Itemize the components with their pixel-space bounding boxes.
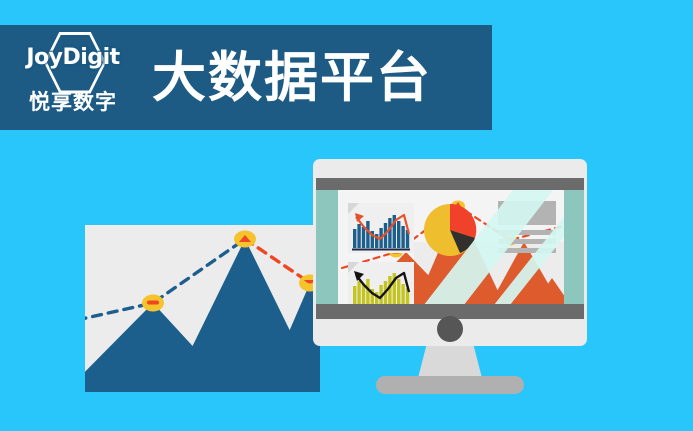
pie-chart[interactable]: [422, 202, 478, 258]
monitor-camera-dot-icon: [437, 316, 463, 342]
header-banner: JoyDigit 悦享数字 大数据平台: [0, 25, 492, 130]
blue-bar-chart-card[interactable]: [348, 203, 414, 253]
logo-english-name: JoyDigit: [26, 45, 119, 70]
placeholder-image: [498, 201, 556, 225]
desktop-monitor: [313, 159, 587, 390]
brand-logo: JoyDigit 悦享数字: [12, 28, 134, 128]
text-placeholder-block: [498, 201, 556, 253]
mountain-shapes: [85, 239, 320, 392]
monitor-stand-base: [376, 376, 524, 394]
monitor-top-bar: [316, 178, 584, 190]
page-title: 大数据平台: [152, 51, 432, 105]
placeholder-line: [498, 248, 556, 253]
placeholder-line: [498, 239, 556, 244]
bars: [353, 273, 409, 304]
monitor-screen: [316, 190, 584, 304]
placeholder-line: [498, 230, 556, 235]
left-mountain-chart: [85, 225, 320, 392]
card-fold-corner: [348, 203, 359, 214]
screen-accent-strip-left: [316, 190, 338, 304]
screen-accent-strip-right: [564, 190, 584, 304]
yellow-bar-chart-card[interactable]: [348, 262, 414, 304]
dashboard-content: [338, 190, 564, 304]
logo-chinese-name: 悦享数字: [29, 86, 117, 116]
left-illustration-panel: [85, 225, 320, 392]
poster-canvas: JoyDigit 悦享数字 大数据平台: [0, 0, 693, 431]
card-fold-corner: [348, 262, 359, 273]
bars: [353, 215, 409, 248]
